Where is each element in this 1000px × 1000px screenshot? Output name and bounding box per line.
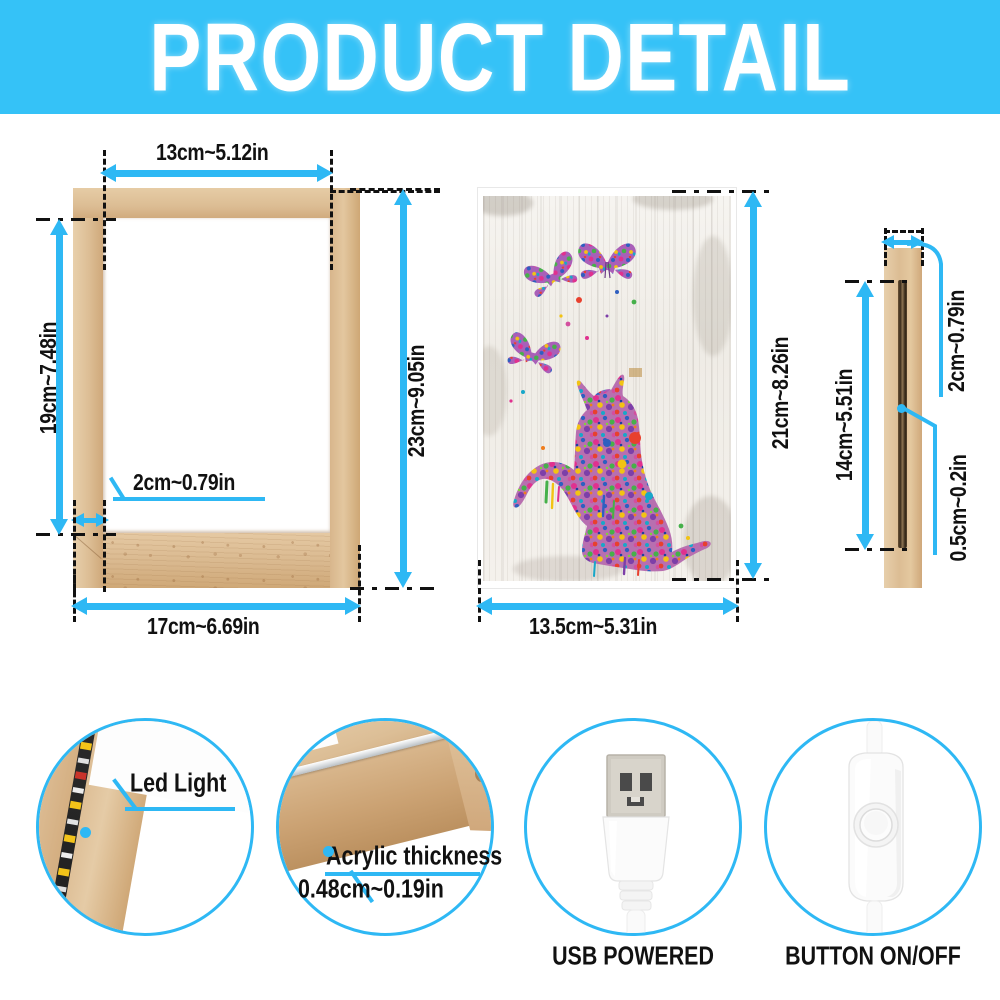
dim-arrow-outer-width <box>84 603 349 610</box>
arrowhead-up <box>744 191 762 207</box>
arrowhead-up <box>394 189 412 205</box>
arrowhead-left <box>100 164 116 182</box>
ext-line-border-right <box>103 500 106 592</box>
dim-label-print-height: 21cm~8.26in <box>769 317 796 470</box>
feature-circle-led-light <box>36 718 254 936</box>
butterfly-top-right <box>578 243 636 278</box>
leader-bar-thickness-tail <box>939 282 943 397</box>
arrowhead-left <box>71 597 87 615</box>
cat-silhouette <box>513 375 711 576</box>
butterfly-upper-left <box>522 250 582 299</box>
ext-line-left-top <box>36 218 116 221</box>
butterfly-lower-left <box>505 331 562 375</box>
dim-arrow-slot-height <box>862 292 869 537</box>
leader-anchor-led-light <box>80 827 91 838</box>
dim-label-slot-width: 0.5cm~0.2in <box>947 426 974 589</box>
arrowhead-up <box>856 281 874 297</box>
leader-led-light <box>125 807 235 811</box>
dim-arrow-inner-width <box>112 170 321 177</box>
dim-label-inner-width: 13cm~5.12in <box>156 141 268 168</box>
arrowhead-right <box>345 597 361 615</box>
arrowhead-left <box>476 597 492 615</box>
dim-label-print-width: 13.5cm~5.31in <box>529 615 657 642</box>
leader-anchor-acrylic-thickness <box>323 846 334 857</box>
acrylic-base-hole <box>475 765 488 782</box>
feature-caption-usb-powered: USB POWERED <box>522 942 744 971</box>
cat-butterflies-artwork-svg <box>483 196 731 581</box>
frame-bottom-rail <box>73 533 360 588</box>
arrowhead-down <box>50 519 68 535</box>
header-banner: PRODUCT DETAIL <box>0 0 1000 114</box>
feature-caption-button-on-off: BUTTON ON/OFF <box>762 942 984 971</box>
frame-right-rail <box>330 188 360 588</box>
ext-line-slot-top <box>845 280 907 283</box>
ext-line-side-top-h <box>884 230 922 233</box>
feature-sublabel-acrylic-thickness: 0.48cm~0.19in <box>298 875 444 904</box>
frame-left-rail <box>73 188 103 588</box>
dim-label-inner-height: 19cm~7.48in <box>37 296 64 459</box>
feature-circle-button-on-off <box>764 718 982 936</box>
dim-arrow-print-height <box>750 202 757 566</box>
dim-arrow-print-width <box>489 603 727 610</box>
feature-label-led-light: Led Light <box>130 769 226 798</box>
dim-label-outer-width: 17cm~6.69in <box>147 615 259 642</box>
arrowhead-left <box>881 235 894 249</box>
dim-label-border-thickness: 2cm~0.79in <box>133 471 235 498</box>
usb-connector-icon <box>527 721 742 936</box>
dim-label-outer-height: 23cm~9.05in <box>405 319 432 482</box>
inline-switch-icon <box>767 721 982 936</box>
arrowhead-right <box>317 164 333 182</box>
frame-top-rail <box>73 188 360 218</box>
arrowhead-down <box>744 563 762 579</box>
arrowhead-down <box>856 534 874 550</box>
arrowhead-down <box>394 572 412 588</box>
leader-border-thickness <box>113 497 265 501</box>
arrowhead-right <box>723 597 739 615</box>
feature-circle-usb-powered <box>524 718 742 936</box>
feature-label-acrylic-thickness: Acrylic thickness <box>326 842 502 871</box>
leader-slot-width-tail <box>933 440 937 555</box>
dim-label-slot-height: 14cm~5.51in <box>833 349 860 502</box>
print-artwork <box>483 196 731 581</box>
ext-line-slot-bottom <box>845 548 907 551</box>
arrowhead-up <box>50 219 68 235</box>
page-title: PRODUCT DETAIL <box>149 2 851 113</box>
dim-label-bar-thickness: 2cm~0.79in <box>945 265 972 418</box>
ochre-mark <box>629 368 642 377</box>
